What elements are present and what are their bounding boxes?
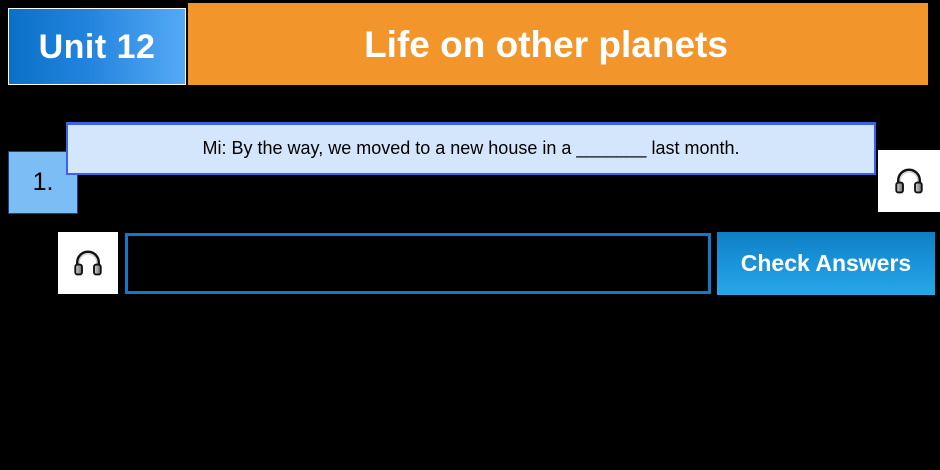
headphones-icon (73, 248, 103, 278)
answer-row: Check Answers (0, 232, 940, 296)
sentence-prompt-box: Mi: By the way, we moved to a new house … (66, 122, 876, 175)
headphones-icon (894, 166, 924, 196)
title-banner: Life on other planets (188, 3, 928, 85)
check-answers-button[interactable]: Check Answers (717, 232, 935, 295)
question-number-label: 1. (33, 170, 54, 195)
page-title: Life on other planets (364, 26, 728, 63)
answer-input[interactable] (125, 233, 711, 294)
question-row: 1. Mi: By the way, we moved to a new hou… (0, 118, 940, 214)
sentence-text: Mi: By the way, we moved to a new house … (203, 138, 740, 160)
unit-badge: Unit 12 (8, 8, 186, 85)
unit-badge-label: Unit 12 (39, 30, 156, 64)
play-audio-button-answer[interactable] (58, 232, 118, 294)
page-header: Unit 12 Life on other planets (0, 0, 940, 86)
play-audio-button-sentence[interactable] (878, 150, 940, 212)
